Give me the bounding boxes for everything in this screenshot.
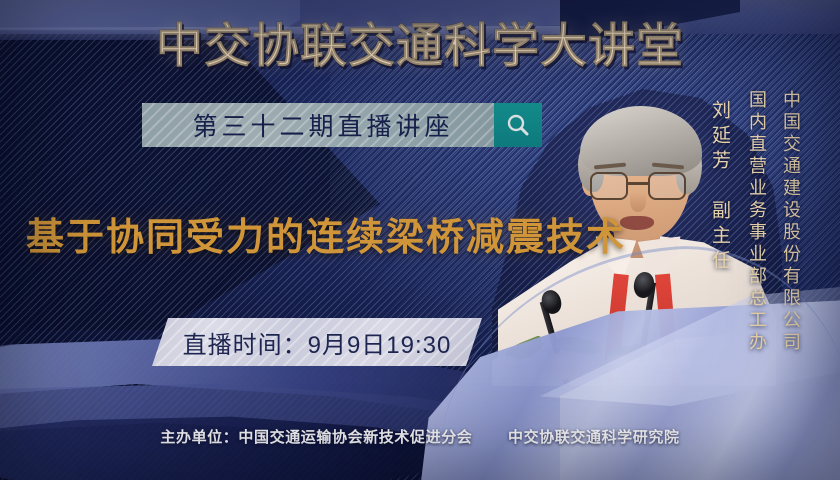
speaker-name: 刘延芳 副主任 [706, 100, 733, 275]
session-bar-label: 第三十二期直播讲座 [142, 107, 494, 143]
footer-organizer-primary: 主办单位：中国交通运输协会新技术促进分会 [160, 429, 472, 446]
live-broadcast-poster: 中交协联交通科学大讲堂 第三十二期直播讲座 基于协同受力的连续梁桥减震技术 直播… [0, 0, 840, 480]
lecture-headline: 基于协同受力的连续梁桥减震技术 [26, 206, 626, 261]
broadcast-time-box: 直播时间：9月9日19:30 [152, 318, 482, 366]
session-bar[interactable]: 第三十二期直播讲座 [142, 103, 542, 147]
footer-organizer-secondary: 中交协联交通科学研究院 [508, 429, 680, 446]
speaker-department: 国内直营业务事业部总工办 [744, 90, 770, 354]
search-icon[interactable] [494, 103, 542, 147]
page-title: 中交协联交通科学大讲堂 [0, 22, 840, 69]
photo-glasses-right [648, 172, 686, 200]
broadcast-time-label: 直播时间：9月9日19:30 [183, 325, 452, 360]
footer-organizers: 主办单位：中国交通运输协会新技术促进分会 中交协联交通科学研究院 [0, 426, 840, 447]
photo-nose [630, 192, 646, 212]
photo-glasses-bridge [626, 182, 650, 185]
photo-glasses-left [590, 172, 628, 200]
speaker-organization: 中国交通建设股份有限公司 [778, 90, 804, 354]
